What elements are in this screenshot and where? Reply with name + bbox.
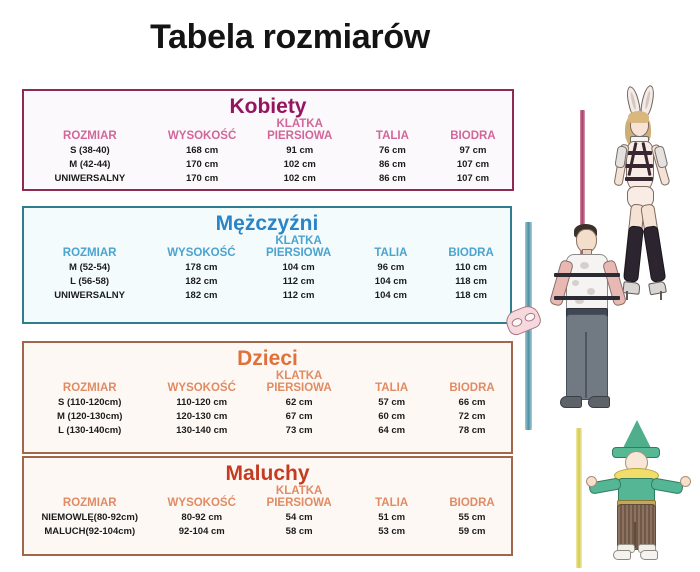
cell-chest: 73 cm bbox=[248, 424, 350, 438]
cell-hips: 97 cm bbox=[434, 144, 512, 158]
cell-hips: 66 cm bbox=[433, 396, 511, 410]
cell-chest: 54 cm bbox=[248, 511, 350, 525]
mask-eye-right bbox=[523, 311, 536, 323]
cell-height: 80-92 cm bbox=[155, 511, 248, 525]
child-shoe-right bbox=[640, 550, 658, 560]
size-chart-page: Tabela rozmiarów Kobiety ROZMIAR WYSOKOŚ… bbox=[0, 0, 700, 572]
cell-size: L (56-58) bbox=[24, 275, 155, 289]
column-header-height: WYSOKOŚĆ bbox=[156, 119, 249, 144]
size-table-men: ROZMIAR WYSOKOŚĆ KLATKA PIERSIOWA TALIA … bbox=[24, 236, 510, 303]
cell-hips: 110 cm bbox=[432, 261, 510, 275]
table-row: M (52-54) 178 cm 104 cm 96 cm 110 cm bbox=[24, 261, 510, 275]
column-header-height: WYSOKOŚĆ bbox=[155, 486, 248, 511]
child-hand-right bbox=[680, 476, 691, 487]
cell-waist: 53 cm bbox=[350, 525, 433, 539]
man-shirt-print bbox=[580, 262, 589, 269]
cell-height: 170 cm bbox=[156, 172, 249, 186]
cell-height: 170 cm bbox=[156, 158, 249, 172]
size-table-toddlers: ROZMIAR WYSOKOŚĆ KLATKA PIERSIOWA TALIA … bbox=[24, 486, 511, 539]
man-shirt-print bbox=[587, 288, 595, 295]
column-header-chest: KLATKA PIERSIOWA bbox=[248, 371, 350, 396]
cell-height: 178 cm bbox=[155, 261, 247, 275]
column-header-chest: KLATKA PIERSIOWA bbox=[248, 486, 350, 511]
child-wizard-costume-figure bbox=[586, 424, 690, 564]
cell-waist: 86 cm bbox=[351, 158, 434, 172]
cell-chest: 58 cm bbox=[248, 525, 350, 539]
man-shirt-print bbox=[572, 280, 579, 286]
table-heading-children: Dzieci bbox=[24, 348, 511, 370]
woman-costume-strap bbox=[625, 177, 653, 181]
column-header-hips: BIODRA bbox=[434, 119, 512, 144]
woman-stocking-right bbox=[643, 225, 667, 283]
size-table-card-men: Mężczyźni ROZMIAR WYSOKOŚĆ KLATKA PIERSI… bbox=[22, 206, 512, 324]
man-chest-strap bbox=[554, 273, 620, 277]
child-hand-left bbox=[586, 476, 597, 487]
cell-height: 182 cm bbox=[155, 275, 247, 289]
cell-size: S (38-40) bbox=[24, 144, 156, 158]
bunny-ear-inner bbox=[644, 91, 651, 109]
man-pants-seam bbox=[585, 332, 587, 398]
cell-size: L (130-140cm) bbox=[24, 424, 155, 438]
cell-size: S (110-120cm) bbox=[24, 396, 155, 410]
cell-hips: 107 cm bbox=[434, 158, 512, 172]
column-header-height: WYSOKOŚĆ bbox=[155, 371, 248, 396]
cell-waist: 76 cm bbox=[351, 144, 434, 158]
cell-height: 92-104 cm bbox=[155, 525, 248, 539]
cell-waist: 60 cm bbox=[350, 410, 433, 424]
mask-eye-left bbox=[510, 317, 523, 329]
column-header-size: ROZMIAR bbox=[24, 371, 155, 396]
column-header-size: ROZMIAR bbox=[24, 119, 156, 144]
column-header-size: ROZMIAR bbox=[24, 486, 155, 511]
woman-heel-right bbox=[660, 291, 662, 300]
table-header-row: ROZMIAR WYSOKOŚĆ KLATKA PIERSIOWA TALIA … bbox=[24, 119, 512, 144]
cell-chest: 112 cm bbox=[248, 289, 350, 303]
cell-size: UNIWERSALNY bbox=[24, 289, 155, 303]
cell-hips: 72 cm bbox=[433, 410, 511, 424]
cell-size: UNIWERSALNY bbox=[24, 172, 156, 186]
column-header-chest: KLATKA PIERSIOWA bbox=[248, 119, 350, 144]
child-arm-right bbox=[650, 477, 684, 494]
cell-waist: 96 cm bbox=[350, 261, 433, 275]
column-header-waist: TALIA bbox=[350, 236, 433, 261]
child-shoe-left bbox=[613, 550, 631, 560]
cell-chest: 62 cm bbox=[248, 396, 350, 410]
size-table-card-women: Kobiety ROZMIAR WYSOKOŚĆ KLATKA PIERSIOW… bbox=[22, 89, 514, 191]
table-row: UNIWERSALNY 170 cm 102 cm 86 cm 107 cm bbox=[24, 172, 512, 186]
cell-waist: 104 cm bbox=[350, 289, 433, 303]
cell-chest: 91 cm bbox=[248, 144, 350, 158]
illustrations-panel bbox=[514, 0, 700, 572]
cell-hips: 107 cm bbox=[434, 172, 512, 186]
table-row: M (120-130cm) 120-130 cm 67 cm 60 cm 72 … bbox=[24, 410, 511, 424]
table-row: S (38-40) 168 cm 91 cm 76 cm 97 cm bbox=[24, 144, 512, 158]
table-row: S (110-120cm) 110-120 cm 62 cm 57 cm 66 … bbox=[24, 396, 511, 410]
measuring-bar-children bbox=[576, 428, 582, 568]
table-heading-toddlers: Maluchy bbox=[24, 463, 511, 485]
page-title: Tabela rozmiarów bbox=[0, 18, 580, 57]
cell-waist: 86 cm bbox=[351, 172, 434, 186]
cell-waist: 57 cm bbox=[350, 396, 433, 410]
table-header-row: ROZMIAR WYSOKOŚĆ KLATKA PIERSIOWA TALIA … bbox=[24, 486, 511, 511]
bunny-ear-inner bbox=[630, 92, 637, 110]
man-tattoo-shirt-figure bbox=[542, 224, 634, 428]
cell-hips: 78 cm bbox=[433, 424, 511, 438]
column-header-hips: BIODRA bbox=[433, 486, 511, 511]
cell-height: 120-130 cm bbox=[155, 410, 248, 424]
cell-size: M (120-130cm) bbox=[24, 410, 155, 424]
table-row: UNIWERSALNY 182 cm 112 cm 104 cm 118 cm bbox=[24, 289, 510, 303]
cell-chest: 102 cm bbox=[248, 172, 350, 186]
cell-chest: 67 cm bbox=[248, 410, 350, 424]
table-row: M (42-44) 170 cm 102 cm 86 cm 107 cm bbox=[24, 158, 512, 172]
woman-costume-strap bbox=[626, 151, 652, 155]
table-heading-men: Mężczyźni bbox=[24, 213, 510, 235]
table-row: NIEMOWLĘ(80-92cm) 80-92 cm 54 cm 51 cm 5… bbox=[24, 511, 511, 525]
man-shoe-left bbox=[560, 396, 582, 408]
size-table-card-toddlers: Maluchy ROZMIAR WYSOKOŚĆ KLATKA PIERSIOW… bbox=[22, 456, 513, 556]
cell-hips: 55 cm bbox=[433, 511, 511, 525]
woman-shoe-right bbox=[648, 281, 667, 296]
cell-chest: 104 cm bbox=[248, 261, 350, 275]
table-row: L (56-58) 182 cm 112 cm 104 cm 118 cm bbox=[24, 275, 510, 289]
column-header-size: ROZMIAR bbox=[24, 236, 155, 261]
size-table-women: ROZMIAR WYSOKOŚĆ KLATKA PIERSIOWA TALIA … bbox=[24, 119, 512, 186]
cell-waist: 51 cm bbox=[350, 511, 433, 525]
column-header-height: WYSOKOŚĆ bbox=[155, 236, 247, 261]
man-pants bbox=[566, 314, 608, 400]
size-table-card-children: Dzieci ROZMIAR WYSOKOŚĆ KLATKA PIERSIOWA… bbox=[22, 341, 513, 454]
cell-chest: 112 cm bbox=[248, 275, 350, 289]
table-header-row: ROZMIAR WYSOKOŚĆ KLATKA PIERSIOWA TALIA … bbox=[24, 236, 510, 261]
table-row: L (130-140cm) 130-140 cm 73 cm 64 cm 78 … bbox=[24, 424, 511, 438]
cell-chest: 102 cm bbox=[248, 158, 350, 172]
column-header-chest: KLATKA PIERSIOWA bbox=[248, 236, 350, 261]
cell-height: 182 cm bbox=[155, 289, 247, 303]
size-table-children: ROZMIAR WYSOKOŚĆ KLATKA PIERSIOWA TALIA … bbox=[24, 371, 511, 438]
table-heading-women: Kobiety bbox=[24, 96, 512, 118]
column-header-hips: BIODRA bbox=[432, 236, 510, 261]
column-header-hips: BIODRA bbox=[433, 371, 511, 396]
man-waist-strap bbox=[554, 296, 620, 300]
column-header-waist: TALIA bbox=[351, 119, 434, 144]
table-row: MALUCH(92-104cm) 92-104 cm 58 cm 53 cm 5… bbox=[24, 525, 511, 539]
cell-size: M (42-44) bbox=[24, 158, 156, 172]
man-shoe-right bbox=[588, 396, 610, 408]
cell-waist: 64 cm bbox=[350, 424, 433, 438]
cell-height: 168 cm bbox=[156, 144, 249, 158]
cell-waist: 104 cm bbox=[350, 275, 433, 289]
cell-height: 110-120 cm bbox=[155, 396, 248, 410]
cell-height: 130-140 cm bbox=[155, 424, 248, 438]
cell-size: M (52-54) bbox=[24, 261, 155, 275]
woman-costume-strap bbox=[625, 164, 653, 168]
column-header-waist: TALIA bbox=[350, 486, 433, 511]
table-header-row: ROZMIAR WYSOKOŚĆ KLATKA PIERSIOWA TALIA … bbox=[24, 371, 511, 396]
cell-hips: 118 cm bbox=[432, 289, 510, 303]
cell-size: MALUCH(92-104cm) bbox=[24, 525, 155, 539]
column-header-waist: TALIA bbox=[350, 371, 433, 396]
cell-hips: 59 cm bbox=[433, 525, 511, 539]
cell-hips: 118 cm bbox=[432, 275, 510, 289]
cell-size: NIEMOWLĘ(80-92cm) bbox=[24, 511, 155, 525]
wizard-hat-icon bbox=[622, 420, 652, 450]
woman-hair-top bbox=[628, 111, 649, 123]
